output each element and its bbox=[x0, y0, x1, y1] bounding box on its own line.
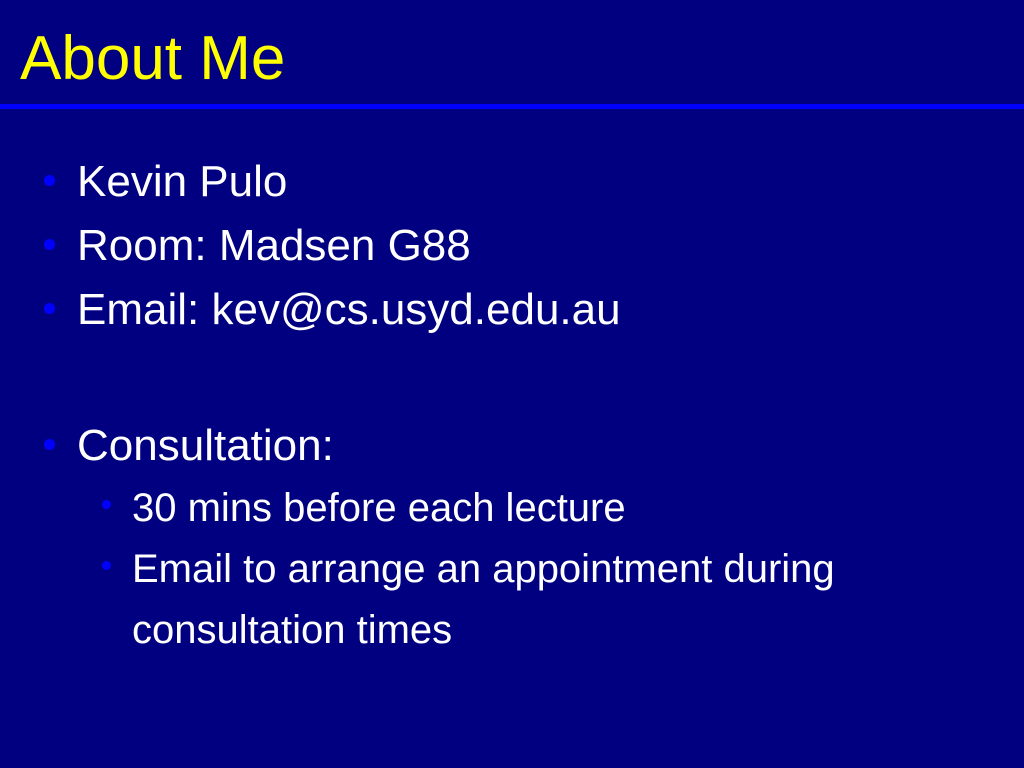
bullet-dot-icon bbox=[44, 439, 55, 450]
list-spacer bbox=[0, 342, 1024, 414]
list-item-label: Kevin Pulo bbox=[77, 150, 287, 214]
title-divider bbox=[0, 104, 1024, 109]
sub-list-item-label: 30 mins before each lecture bbox=[132, 478, 626, 539]
list-item: Room: Madsen G88 bbox=[0, 214, 1024, 278]
bullet-dot-icon bbox=[44, 239, 55, 250]
sub-bullet-dot-icon bbox=[102, 561, 111, 570]
sub-list-item: 30 mins before each lecture bbox=[0, 478, 1024, 539]
slide-body: Kevin Pulo Room: Madsen G88 Email: kev@c… bbox=[0, 150, 1024, 661]
list-item: Email: kev@cs.usyd.edu.au bbox=[0, 278, 1024, 342]
sub-list-item: Email to arrange an appointment during c… bbox=[0, 539, 1024, 661]
bullet-dot-icon bbox=[44, 175, 55, 186]
bullet-dot-icon bbox=[44, 303, 55, 314]
sub-bullet-dot-icon bbox=[102, 500, 111, 509]
slide: About Me Kevin Pulo Room: Madsen G88 Ema… bbox=[0, 0, 1024, 768]
list-item-label: Room: Madsen G88 bbox=[77, 214, 471, 278]
list-item: Consultation: bbox=[0, 414, 1024, 478]
list-item-label: Email: kev@cs.usyd.edu.au bbox=[77, 278, 621, 342]
sub-list-item-label: Email to arrange an appointment during c… bbox=[132, 539, 892, 661]
list-item-label: Consultation: bbox=[77, 414, 334, 478]
list-item: Kevin Pulo bbox=[0, 150, 1024, 214]
page-title: About Me bbox=[20, 22, 285, 96]
